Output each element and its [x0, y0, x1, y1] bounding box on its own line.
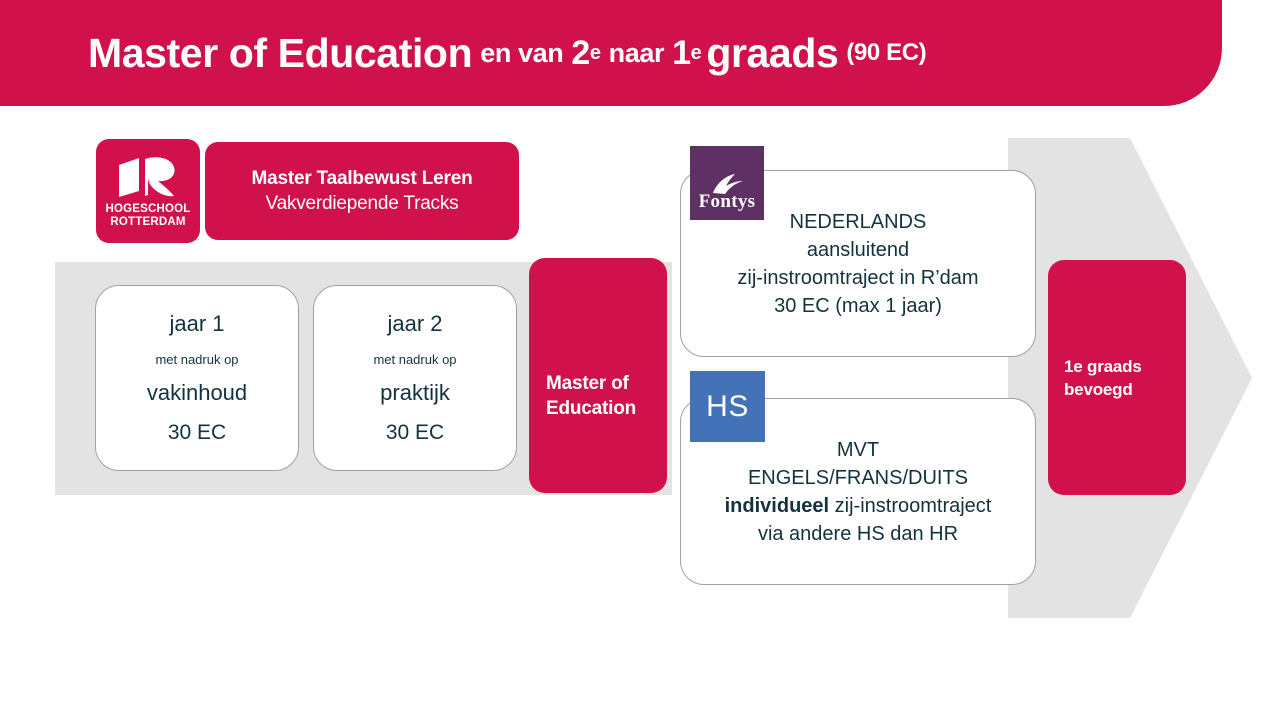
year-card-2: jaar 2 met nadruk op praktijk 30 EC [313, 285, 517, 471]
title-ec: (90 EC) [846, 39, 926, 67]
nederlands-line-2: aansluitend [807, 236, 909, 264]
year-1-ec: 30 EC [168, 421, 226, 445]
page-header: Master of Education en van 2e naar 1e gr… [0, 0, 1222, 106]
hs-wordmark: HS [706, 390, 749, 424]
mvt-line-4: via andere HS dan HR [758, 520, 958, 548]
moe-line-1: Master of [546, 373, 629, 394]
mvt-line-3-rest: zij-instroomtraject [829, 495, 991, 517]
moe-line-2: Education [546, 398, 636, 419]
year-1-focus: vakinhoud [147, 380, 247, 406]
year-2-sub: met nadruk op [373, 352, 456, 367]
title-number-2: 2 [571, 34, 590, 73]
year-2-title: jaar 2 [387, 311, 442, 337]
hogeschool-rotterdam-logo: HOGESCHOOL ROTTERDAM [96, 139, 200, 243]
hs-logo: HS [690, 371, 765, 442]
year-2-focus: praktijk [380, 380, 450, 406]
result-line-2: bevoegd [1064, 380, 1133, 399]
year-2-ec: 30 EC [386, 421, 444, 445]
nederlands-line-3: zij-instroomtraject in R’dam [737, 264, 978, 292]
result-label: 1e graads bevoegd [1048, 355, 1142, 401]
title-graads: graads [706, 30, 838, 77]
hr-flag-icon [117, 153, 179, 199]
banner-line-2: Vakverdiepende Tracks [266, 193, 459, 215]
fontys-logo: Fontys [690, 146, 764, 220]
mvt-line-3: individueel zij-instroomtraject [725, 492, 992, 520]
result-box: 1e graads bevoegd [1048, 260, 1186, 495]
year-1-sub: met nadruk op [155, 352, 238, 367]
result-line-1: 1e graads [1064, 357, 1142, 376]
year-card-1: jaar 1 met nadruk op vakinhoud 30 EC [95, 285, 299, 471]
master-of-education-box: Master of Education [529, 258, 667, 493]
title-number-1: 1 [672, 34, 691, 73]
title-main: Master of Education [88, 30, 472, 77]
mvt-line-1: MVT [837, 436, 879, 464]
title-mid-1: en van [480, 38, 563, 69]
mvt-bold-word: individueel [725, 495, 829, 517]
mvt-line-2: ENGELS/FRANS/DUITS [748, 464, 968, 492]
hr-logo-line-1: HOGESCHOOL [105, 203, 190, 216]
nederlands-line-1: NEDERLANDS [790, 208, 927, 236]
year-1-title: jaar 1 [169, 311, 224, 337]
fontys-wordmark: Fontys [699, 191, 756, 213]
master-of-education-label: Master of Education [529, 331, 636, 421]
master-taalbewust-banner: Master Taalbewust Leren Vakverdiepende T… [205, 142, 519, 240]
title-mid-2: naar [609, 38, 664, 69]
nederlands-line-4: 30 EC (max 1 jaar) [774, 292, 942, 320]
hr-logo-line-2: ROTTERDAM [110, 216, 185, 229]
banner-line-1: Master Taalbewust Leren [251, 168, 472, 190]
page-title: Master of Education en van 2e naar 1e gr… [88, 0, 926, 106]
